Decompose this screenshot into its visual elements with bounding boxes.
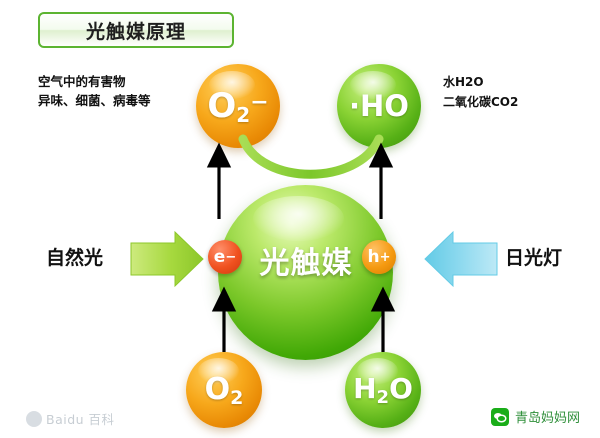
left-input-line-2: 异味、细菌、病毒等 [38, 91, 151, 110]
right-output-line-1: 水H2O [443, 72, 518, 92]
node-superoxide-radical: O2− [196, 64, 280, 148]
baidu-watermark-text: Baidu 百科 [46, 409, 115, 428]
node-water-label: H2O [353, 372, 413, 408]
electron-badge: e− [208, 240, 242, 274]
paw-icon [26, 411, 42, 427]
node-oxygen-label: O2 [205, 372, 244, 409]
account-name: 青岛妈妈网 [515, 407, 580, 426]
wechat-icon [491, 408, 509, 426]
node-oxygen: O2 [186, 352, 262, 428]
radical-link-curve [243, 139, 379, 174]
node-hydroxyl-label: ·HO [349, 89, 409, 123]
daylight-lamp-arrow [425, 232, 497, 286]
node-superoxide-label: O2− [207, 86, 268, 127]
daylight-lamp-label: 日光灯 [505, 243, 562, 270]
baidu-watermark: Baidu 百科 [26, 409, 115, 428]
left-input-annotation: 空气中的有害物 异味、细菌、病毒等 [38, 72, 151, 110]
sunlight-label: 自然光 [46, 243, 103, 270]
node-photocatalyst-label: 光触媒 [240, 238, 372, 282]
diagram-title-badge: 光触媒原理 [38, 12, 234, 48]
right-output-line-2: 二氧化碳CO2 [443, 92, 518, 112]
node-hydroxyl-radical: ·HO [337, 64, 421, 148]
left-input-line-1: 空气中的有害物 [38, 72, 151, 91]
node-water: H2O [345, 352, 421, 428]
diagram-canvas: 光触媒原理 空气中的有害物 异味、细菌、病毒等 水H2O 二氧化碳CO2 自然光… [0, 0, 600, 438]
page-title: 光触媒原理 [86, 17, 186, 44]
hole-badge: h+ [362, 240, 396, 274]
sunlight-arrow [131, 232, 203, 286]
right-output-annotation: 水H2O 二氧化碳CO2 [443, 72, 518, 112]
account-tag: 青岛妈妈网 [491, 407, 580, 426]
